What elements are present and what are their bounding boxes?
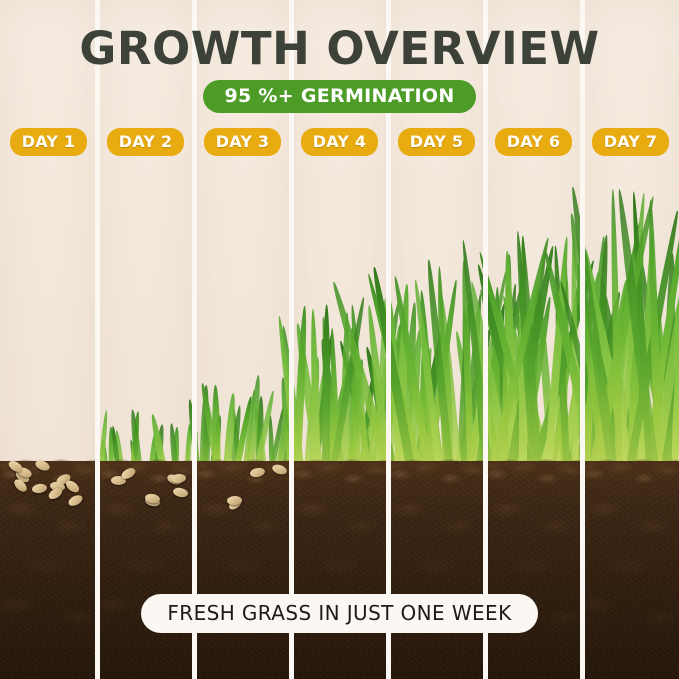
day-badge-cell: DAY 2 xyxy=(97,128,194,156)
day-badge-4: DAY 4 xyxy=(301,128,378,156)
germination-badge: 95 %+ GERMINATION xyxy=(203,80,475,113)
soil-bed xyxy=(582,461,679,679)
soil-surface-line xyxy=(582,456,679,470)
day-panel-1 xyxy=(0,0,97,679)
soil-bed xyxy=(388,461,485,679)
footer: FRESH GRASS IN JUST ONE WEEK xyxy=(0,594,679,633)
soil-surface-line xyxy=(291,456,388,470)
soil-surface-line xyxy=(485,456,582,470)
day-badge-row: DAY 1DAY 2DAY 3DAY 4DAY 5DAY 6DAY 7 xyxy=(0,128,679,156)
day-badge-cell: DAY 6 xyxy=(485,128,582,156)
day-badge-2: DAY 2 xyxy=(107,128,184,156)
day-badge-cell: DAY 5 xyxy=(388,128,485,156)
growth-overview-infographic: GROWTH OVERVIEW 95 %+ GERMINATION DAY 1D… xyxy=(0,0,679,679)
day-panel-7 xyxy=(582,0,679,679)
soil-bed xyxy=(194,461,291,679)
day-badge-cell: DAY 1 xyxy=(0,128,97,156)
footer-caption: FRESH GRASS IN JUST ONE WEEK xyxy=(141,594,537,633)
day-badge-3: DAY 3 xyxy=(204,128,281,156)
soil-bed xyxy=(485,461,582,679)
day-badge-cell: DAY 4 xyxy=(291,128,388,156)
soil-bed xyxy=(291,461,388,679)
day-badge-5: DAY 5 xyxy=(398,128,475,156)
day-badge-1: DAY 1 xyxy=(10,128,87,156)
day-panel-2 xyxy=(97,0,194,679)
day-badge-cell: DAY 7 xyxy=(582,128,679,156)
soil-surface-line xyxy=(388,456,485,470)
day-badge-7: DAY 7 xyxy=(592,128,669,156)
day-badge-6: DAY 6 xyxy=(495,128,572,156)
day-badge-cell: DAY 3 xyxy=(194,128,291,156)
soil-surface-line xyxy=(97,456,194,470)
